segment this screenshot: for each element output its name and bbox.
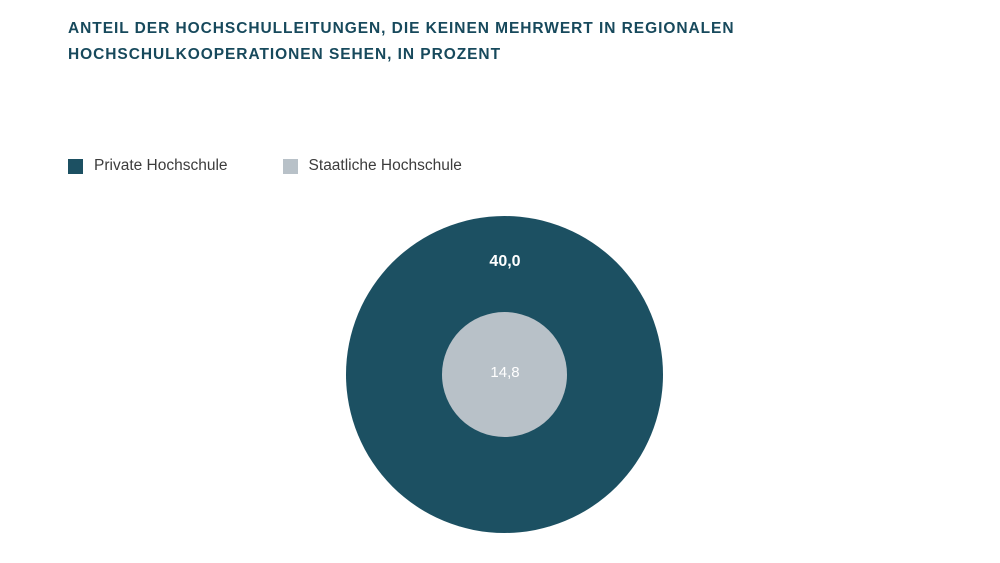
nested-bubble-chart: 40,0 14,8	[0, 0, 1000, 563]
bubble-value-label-staatliche-hochschule: 14,8	[405, 364, 605, 381]
bubble-value-label-private-hochschule: 40,0	[405, 253, 605, 271]
